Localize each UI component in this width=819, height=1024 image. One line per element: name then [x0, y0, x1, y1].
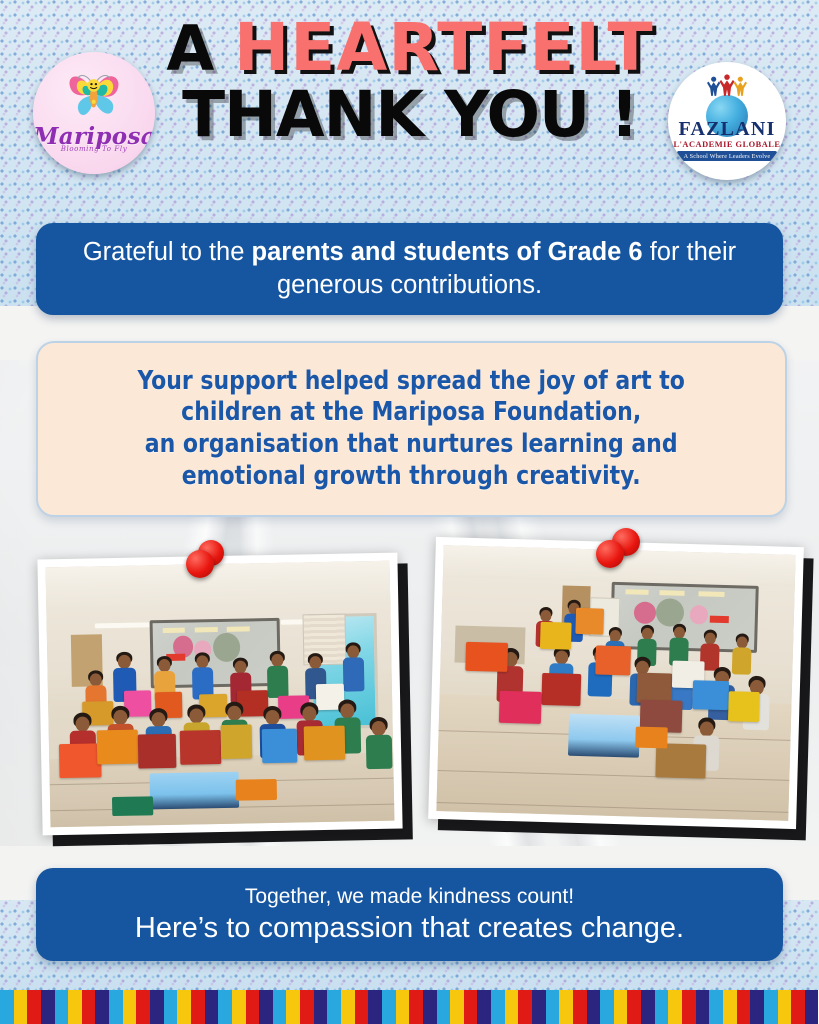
- title-word-a: A: [166, 12, 213, 85]
- stripe-segment: [668, 990, 682, 1024]
- photo-right-image: [436, 545, 795, 821]
- closing-line-2: Here’s to compassion that creates change…: [135, 913, 684, 945]
- gratitude-banner: Grateful to the parents and students of …: [36, 223, 783, 315]
- people-icon: [702, 73, 752, 97]
- stripe-segment: [123, 990, 137, 1024]
- stripe-segment: [518, 990, 532, 1024]
- stripe-segment: [191, 990, 205, 1024]
- stripe-segment: [737, 990, 751, 1024]
- stripe-segment: [246, 990, 260, 1024]
- stripe-segment: [627, 990, 641, 1024]
- poster-canvas: Mariposa Blooming To Fly: [0, 0, 819, 1024]
- photo-left-image: [46, 561, 395, 828]
- fazlani-logo-banner: A School Where Leaders Evolve: [677, 151, 778, 161]
- stripe-segment: [600, 990, 614, 1024]
- stripe-segment: [68, 990, 82, 1024]
- gratitude-banner-text: Grateful to the parents and students of …: [36, 236, 783, 301]
- stripe-segment: [750, 990, 764, 1024]
- photo-right: [428, 537, 804, 829]
- red-pushpin-left: [186, 540, 230, 584]
- stripe-segment: [437, 990, 451, 1024]
- red-pushpin-right: [596, 528, 642, 574]
- gratitude-text-before: Grateful to the: [83, 238, 252, 266]
- stripe-segment: [546, 990, 560, 1024]
- stripe-segment: [396, 990, 410, 1024]
- stripe-segment: [55, 990, 69, 1024]
- closing-line-1: Together, we made kindness count!: [245, 885, 574, 908]
- stripe-segment: [655, 990, 669, 1024]
- stripe-segment: [27, 990, 41, 1024]
- stripe-segment: [491, 990, 505, 1024]
- stripe-segment: [723, 990, 737, 1024]
- poster-title: A HEARTFELT THANK YOU !: [160, 16, 660, 145]
- stripe-segment: [0, 990, 14, 1024]
- stripe-segment: [341, 990, 355, 1024]
- stripe-segment: [641, 990, 655, 1024]
- footer-stripe: [0, 990, 819, 1024]
- title-line-thankyou: THANK YOU !: [160, 84, 660, 145]
- support-message-text: Your support helped spread the joy of ar…: [138, 366, 685, 493]
- poster-header: Mariposa Blooming To Fly: [0, 0, 819, 215]
- mariposa-logo: Mariposa Blooming To Fly: [33, 52, 155, 174]
- support-line-2: children at the Mariposa Foundation,: [138, 397, 685, 429]
- stripe-segment: [464, 990, 478, 1024]
- stripe-segment: [218, 990, 232, 1024]
- stripe-segment: [587, 990, 601, 1024]
- stripe-segment: [532, 990, 546, 1024]
- stripe-segment: [805, 990, 819, 1024]
- stripe-segment: [559, 990, 573, 1024]
- stripe-segment: [150, 990, 164, 1024]
- footer-stripe-pattern: [0, 990, 819, 1024]
- stripe-segment: [764, 990, 778, 1024]
- stripe-segment: [791, 990, 805, 1024]
- stripe-segment: [259, 990, 273, 1024]
- stripe-segment: [273, 990, 287, 1024]
- stripe-segment: [300, 990, 314, 1024]
- fazlani-logo-subtitle: L'ACADEMIE GLOBALE: [674, 140, 781, 149]
- stripe-segment: [14, 990, 28, 1024]
- stripe-segment: [709, 990, 723, 1024]
- stripe-segment: [696, 990, 710, 1024]
- stripe-segment: [368, 990, 382, 1024]
- support-line-3: an organisation that nurtures learning a…: [138, 429, 685, 461]
- title-word-heartfelt: HEARTFELT: [234, 9, 654, 86]
- stripe-segment: [355, 990, 369, 1024]
- mariposa-logo-tagline: Blooming To Fly: [33, 145, 155, 153]
- support-line-1: Your support helped spread the joy of ar…: [138, 366, 685, 398]
- stripe-segment: [614, 990, 628, 1024]
- stripe-segment: [409, 990, 423, 1024]
- stripe-segment: [314, 990, 328, 1024]
- classroom-scene: [46, 561, 395, 828]
- stripe-segment: [232, 990, 246, 1024]
- stripe-segment: [136, 990, 150, 1024]
- stripe-segment: [573, 990, 587, 1024]
- gratitude-text-bold: parents and students of Grade 6: [252, 238, 643, 266]
- stripe-segment: [177, 990, 191, 1024]
- closing-banner: Together, we made kindness count! Here’s…: [36, 868, 783, 961]
- fazlani-logo-name: FAZLANI: [679, 119, 776, 139]
- stripe-segment: [205, 990, 219, 1024]
- stripe-segment: [477, 990, 491, 1024]
- stripe-segment: [286, 990, 300, 1024]
- stripe-segment: [82, 990, 96, 1024]
- stripe-segment: [327, 990, 341, 1024]
- stripe-segment: [423, 990, 437, 1024]
- stripe-segment: [450, 990, 464, 1024]
- butterfly-icon: [56, 64, 132, 122]
- support-line-4: emotional growth through creativity.: [138, 461, 685, 493]
- stripe-segment: [95, 990, 109, 1024]
- stripe-segment: [109, 990, 123, 1024]
- fazlani-logo: FAZLANI L'ACADEMIE GLOBALE A School Wher…: [668, 62, 786, 180]
- stripe-segment: [778, 990, 792, 1024]
- classroom-scene: [436, 545, 795, 821]
- stripe-segment: [505, 990, 519, 1024]
- photo-left: [37, 553, 402, 836]
- stripe-segment: [164, 990, 178, 1024]
- support-message-card: Your support helped spread the joy of ar…: [36, 341, 787, 517]
- stripe-segment: [41, 990, 55, 1024]
- stripe-segment: [382, 990, 396, 1024]
- stripe-segment: [682, 990, 696, 1024]
